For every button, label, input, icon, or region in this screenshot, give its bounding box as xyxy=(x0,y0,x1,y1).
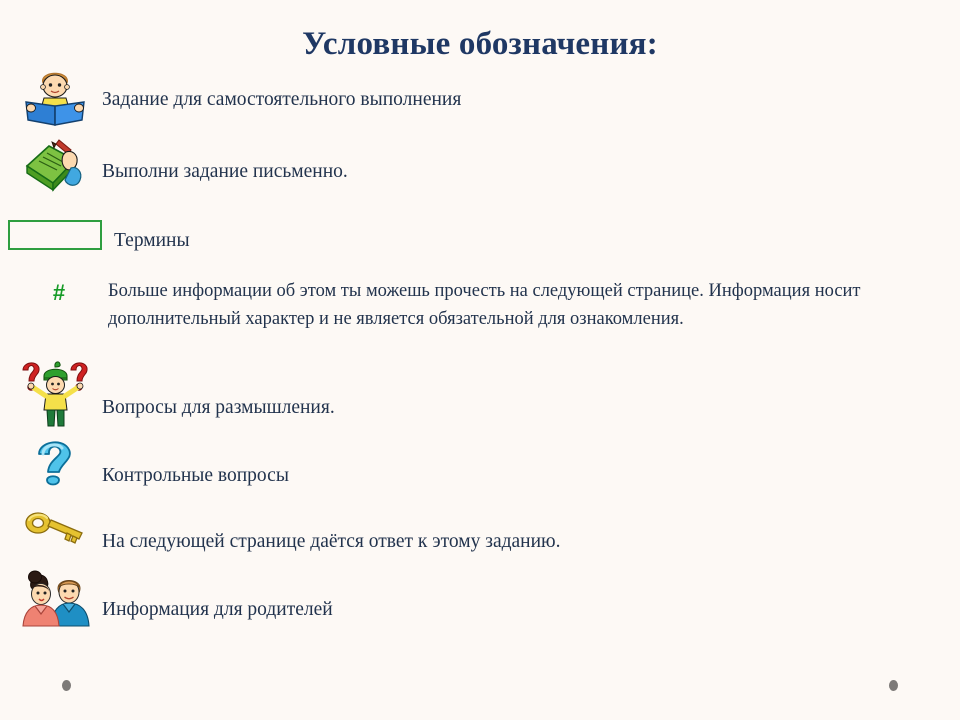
boy-reading-book-icon xyxy=(10,62,102,128)
nav-dot-previous[interactable] xyxy=(62,680,71,691)
legend-row-control-questions: Контрольные вопросы xyxy=(10,436,910,508)
nav-dot-next[interactable] xyxy=(889,680,898,691)
legend-row-terms: Термины xyxy=(0,220,900,264)
legend-label-terms: Термины xyxy=(114,220,190,255)
page-title: Условные обозначения: xyxy=(0,26,960,63)
jester-with-question-marks-icon xyxy=(10,356,102,428)
legend-label-thinking-questions: Вопросы для размышления. xyxy=(102,356,335,422)
legend-row-written-task: Выполни задание письменно. xyxy=(10,136,910,200)
slide-canvas: Условные обозначения: xyxy=(0,0,960,720)
hash-symbol-glyph: # xyxy=(53,282,65,304)
parents-couple-icon xyxy=(10,566,102,634)
terms-highlight-box xyxy=(8,220,102,250)
gold-key-icon xyxy=(10,508,102,548)
legend-label-control-questions: Контрольные вопросы xyxy=(102,436,289,490)
legend-label-written-task: Выполни задание письменно. xyxy=(102,136,348,186)
blue-question-mark-icon xyxy=(10,436,102,498)
hand-writing-notebook-icon xyxy=(10,136,102,198)
legend-label-answer-key: На следующей странице даётся ответ к это… xyxy=(102,508,561,556)
green-rectangle-box-icon xyxy=(0,220,114,250)
legend-row-thinking-questions: Вопросы для размышления. xyxy=(10,356,910,432)
legend-row-answer-key: На следующей странице даётся ответ к это… xyxy=(10,508,910,564)
legend-row-more-info: # Больше информации об этом ты можешь пр… xyxy=(10,278,940,358)
hash-symbol-icon: # xyxy=(10,278,108,304)
legend-label-more-info: Больше информации об этом ты можешь проч… xyxy=(108,278,890,334)
legend-row-parents-info: Информация для родителей xyxy=(10,566,910,644)
legend-label-independent-task: Задание для самостоятельного выполнения xyxy=(102,62,461,114)
legend-label-parents-info: Информация для родителей xyxy=(102,566,333,624)
legend-row-independent-task: Задание для самостоятельного выполнения xyxy=(10,62,910,126)
